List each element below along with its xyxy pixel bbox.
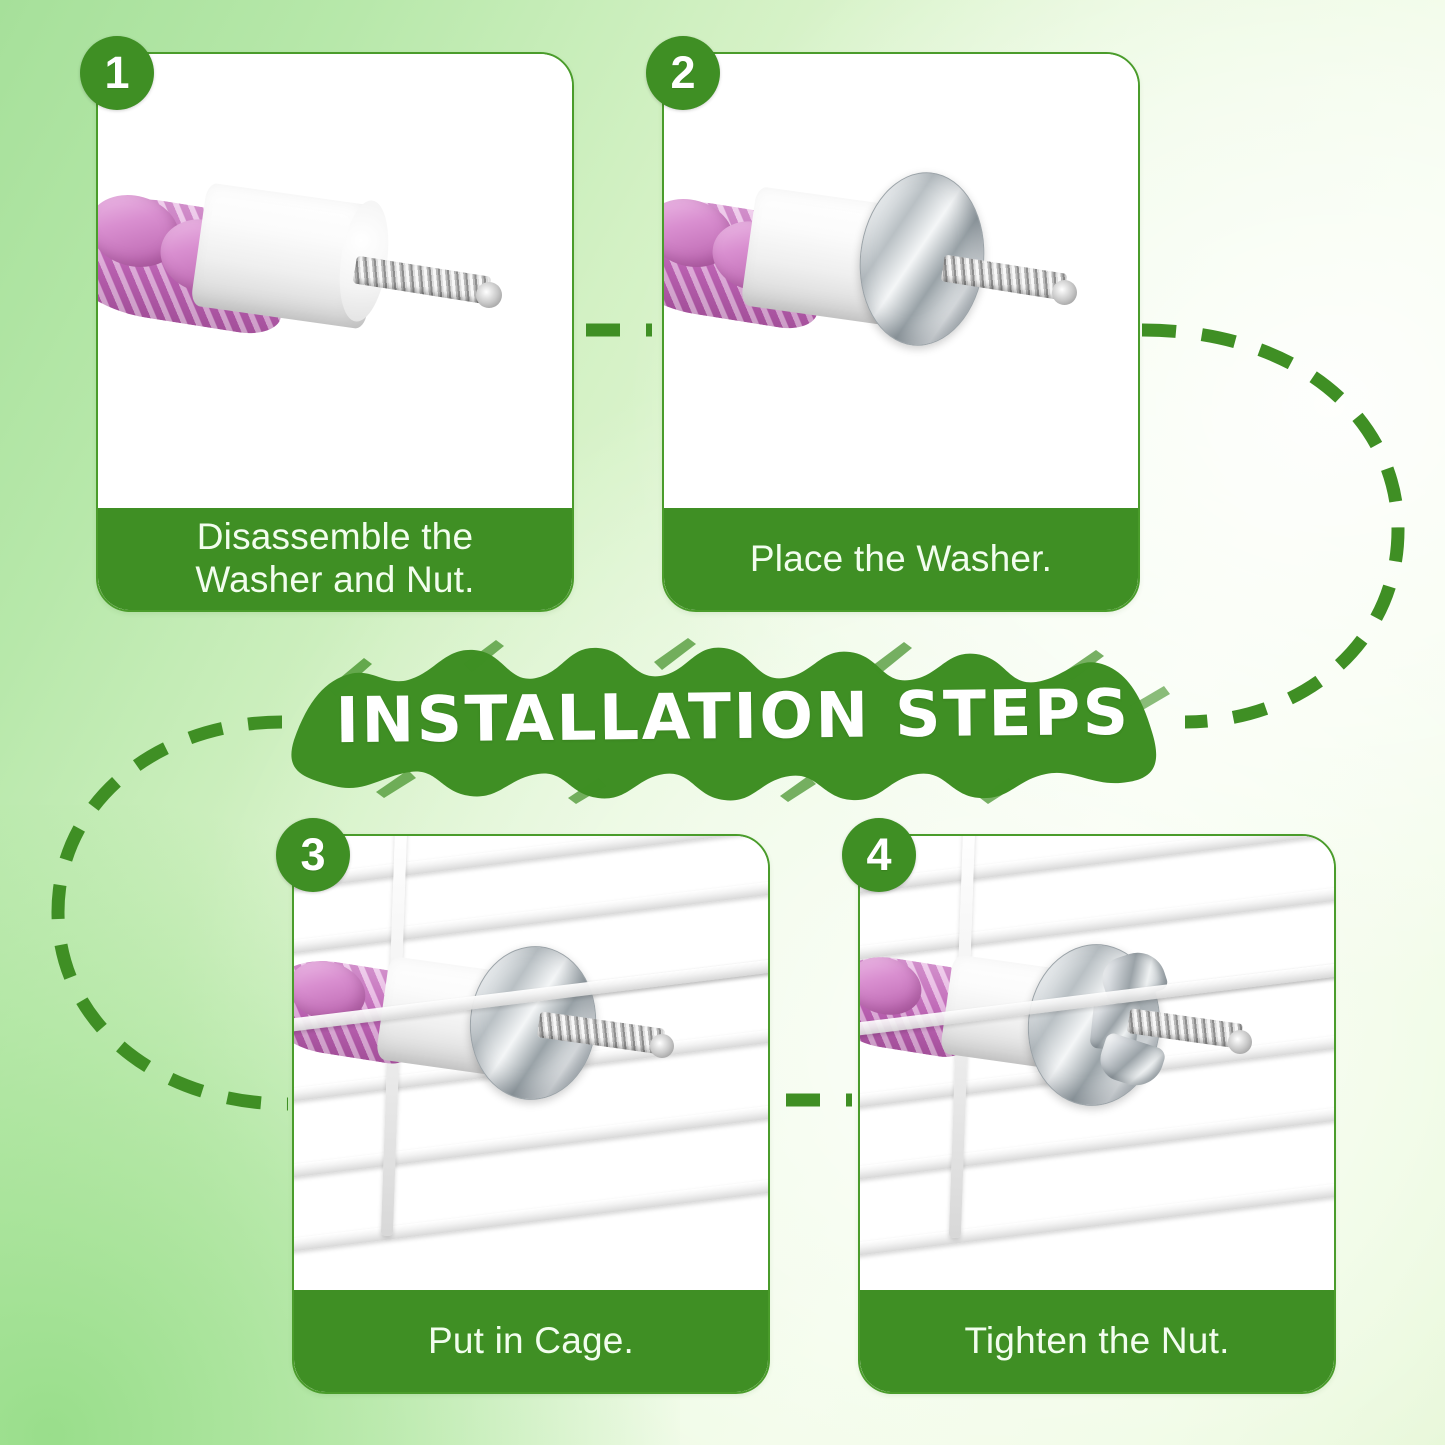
- cage-bar-horizontal: [294, 878, 768, 954]
- step-card-3[interactable]: Put in Cage.: [292, 834, 770, 1394]
- step-badge-3: 3: [276, 818, 350, 892]
- cage-bar-horizontal: [294, 1102, 768, 1178]
- step-badge-4: 4: [842, 818, 916, 892]
- step-3-caption: Put in Cage.: [294, 1290, 768, 1392]
- step-card-2[interactable]: Place the Washer.: [662, 52, 1140, 612]
- infographic-canvas: Disassemble the Washer and Nut. 1 Place …: [0, 0, 1445, 1445]
- cage-bar-horizontal: [294, 1176, 768, 1252]
- step-2-caption: Place the Washer.: [664, 508, 1138, 610]
- step-3-caption-line1: Put in Cage.: [428, 1320, 634, 1363]
- step-badge-1: 1: [80, 36, 154, 110]
- step-4-caption: Tighten the Nut.: [860, 1290, 1334, 1392]
- step-card-1[interactable]: Disassemble the Washer and Nut.: [96, 52, 574, 612]
- cage-bar-horizontal: [860, 1104, 1334, 1180]
- screw-tip: [1052, 280, 1077, 305]
- step-badge-2: 2: [646, 36, 720, 110]
- step-1-caption-line1: Disassemble the: [197, 516, 474, 557]
- step-3-image: [294, 836, 768, 1294]
- cage-bar-horizontal: [294, 836, 768, 891]
- step-1-caption: Disassemble the Washer and Nut.: [98, 508, 572, 610]
- screw-tip: [1228, 1030, 1252, 1054]
- step-card-4[interactable]: Tighten the Nut.: [858, 834, 1336, 1394]
- title-banner: INSTALLATION STEPS: [268, 628, 1198, 804]
- cage-bar-horizontal: [860, 836, 1334, 895]
- step-2-caption-line1: Place the Washer.: [750, 538, 1052, 581]
- step-4-caption-line1: Tighten the Nut.: [964, 1320, 1229, 1363]
- connector-title-to-step3: [58, 722, 288, 1104]
- page-title: INSTALLATION STEPS: [267, 623, 1199, 809]
- step-4-image: [860, 836, 1334, 1294]
- step-2-image: [664, 54, 1138, 512]
- cage-bar-horizontal: [860, 1180, 1334, 1256]
- screw-tip: [650, 1034, 674, 1058]
- screw-tip: [476, 282, 502, 308]
- step-1-caption-line2: Washer and Nut.: [195, 559, 474, 600]
- step-1-image: [98, 54, 572, 512]
